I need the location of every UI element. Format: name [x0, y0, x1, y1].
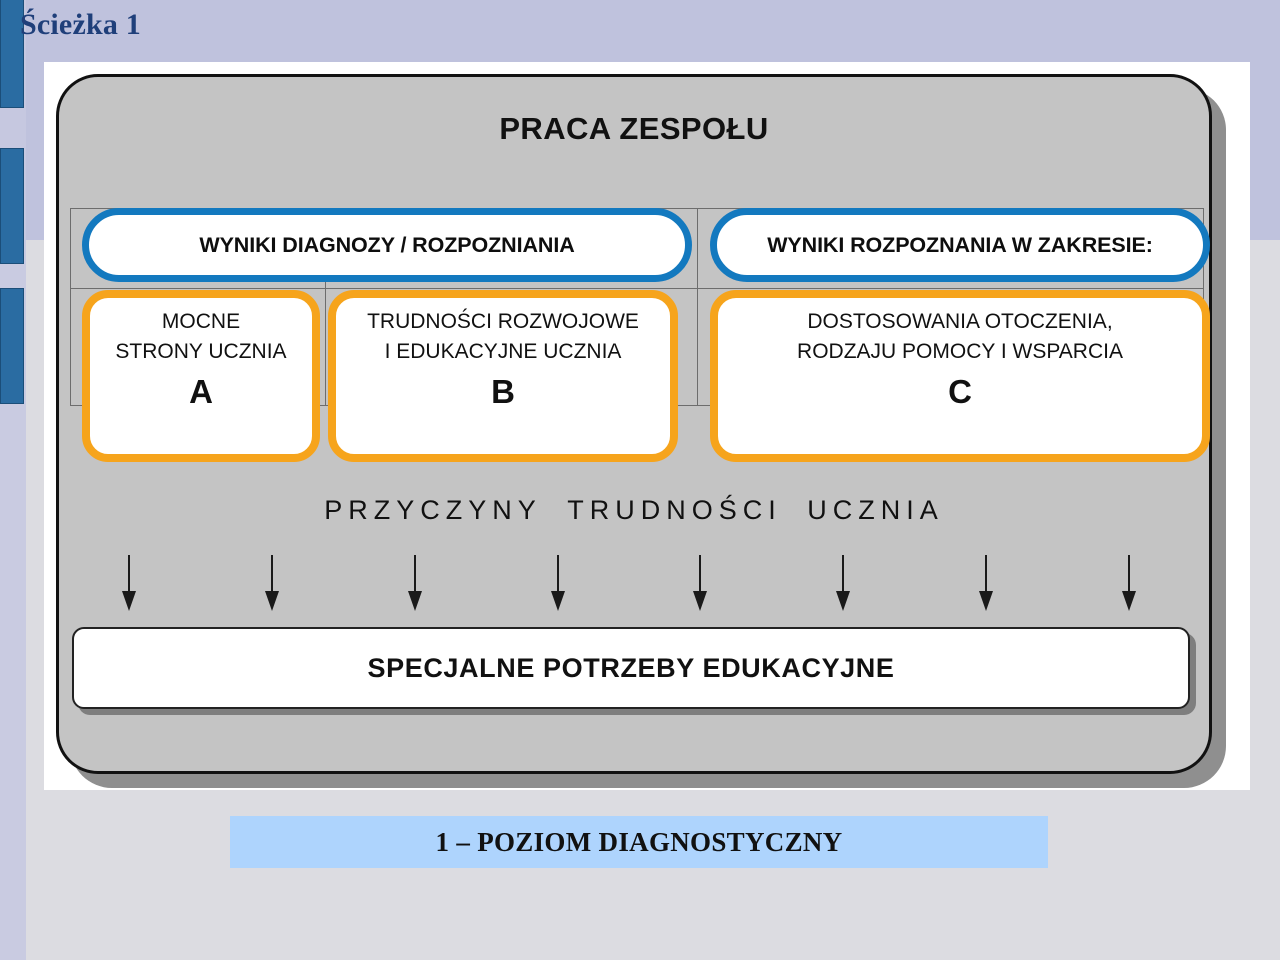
- diagnosis-table: WYNIKI DIAGNOZY / ROZPOZNIANIA WYNIKI RO…: [70, 208, 1204, 406]
- caption-text: 1 – POZIOM DIAGNOSTYCZNY: [436, 827, 843, 858]
- causes-spacer-1: [542, 495, 568, 525]
- decorative-side-bar-2: [0, 148, 24, 264]
- orange-cell-b-line2: I EDUKACYJNE UCZNIA: [385, 337, 622, 367]
- arrow-down-icon: [833, 555, 853, 613]
- orange-cell-c-line1: DOSTOSOWANIA OTOCZENIA,: [807, 307, 1112, 337]
- header-pill-diagnosis-results[interactable]: WYNIKI DIAGNOZY / ROZPOZNIANIA: [82, 208, 692, 282]
- arrow-row: [119, 555, 1139, 617]
- orange-cell-c[interactable]: DOSTOSOWANIA OTOCZENIA, RODZAJU POMOCY I…: [710, 290, 1210, 462]
- orange-cell-c-letter: C: [948, 373, 972, 411]
- arrow-down-icon: [405, 555, 425, 613]
- causes-word-1: PRZYCZYNY: [324, 495, 542, 525]
- arrow-down-icon: [976, 555, 996, 613]
- table-gridline-col2: [697, 208, 698, 406]
- orange-cell-a-line1: MOCNE: [162, 307, 240, 337]
- arrow-down-icon: [1119, 555, 1139, 613]
- diagram-heading: PRACA ZESPOŁU: [59, 111, 1209, 147]
- table-gridline-left: [70, 208, 71, 406]
- page-title: Ścieżka 1: [20, 8, 141, 42]
- orange-cell-a-letter: A: [189, 373, 213, 411]
- arrow-down-icon: [119, 555, 139, 613]
- arrow-down-icon: [548, 555, 568, 613]
- causes-spacer-2: [782, 495, 808, 525]
- orange-cell-a-line2: STRONY UCZNIA: [115, 337, 286, 367]
- orange-cell-c-line2: RODZAJU POMOCY I WSPARCIA: [797, 337, 1123, 367]
- orange-cell-a[interactable]: MOCNE STRONY UCZNIA A: [82, 290, 320, 462]
- decorative-side-bar-3: [0, 288, 24, 404]
- arrow-down-icon: [262, 555, 282, 613]
- orange-cell-b-letter: B: [491, 373, 515, 411]
- causes-word-3: UCZNIA: [807, 495, 944, 525]
- header-pill-recognition-scope[interactable]: WYNIKI ROZPOZNANIA W ZAKRESIE:: [710, 208, 1210, 282]
- outcome-bar-special-educational-needs[interactable]: SPECJALNE POTRZEBY EDUKACYJNE: [72, 627, 1190, 709]
- causes-word-2: TRUDNOŚCI: [567, 495, 782, 525]
- diagram-container: PRACA ZESPOŁU WYNIKI DIAGNOZY / ROZPOZNI…: [56, 74, 1212, 774]
- caption-band: 1 – POZIOM DIAGNOSTYCZNY: [230, 816, 1048, 868]
- causes-label: PRZYCZYNY TRUDNOŚCI UCZNIA: [59, 495, 1209, 526]
- table-gridline-middle: [70, 288, 1204, 289]
- arrow-down-icon: [690, 555, 710, 613]
- orange-cell-b[interactable]: TRUDNOŚCI ROZWOJOWE I EDUKACYJNE UCZNIA …: [328, 290, 678, 462]
- orange-cell-b-line1: TRUDNOŚCI ROZWOJOWE: [367, 307, 639, 337]
